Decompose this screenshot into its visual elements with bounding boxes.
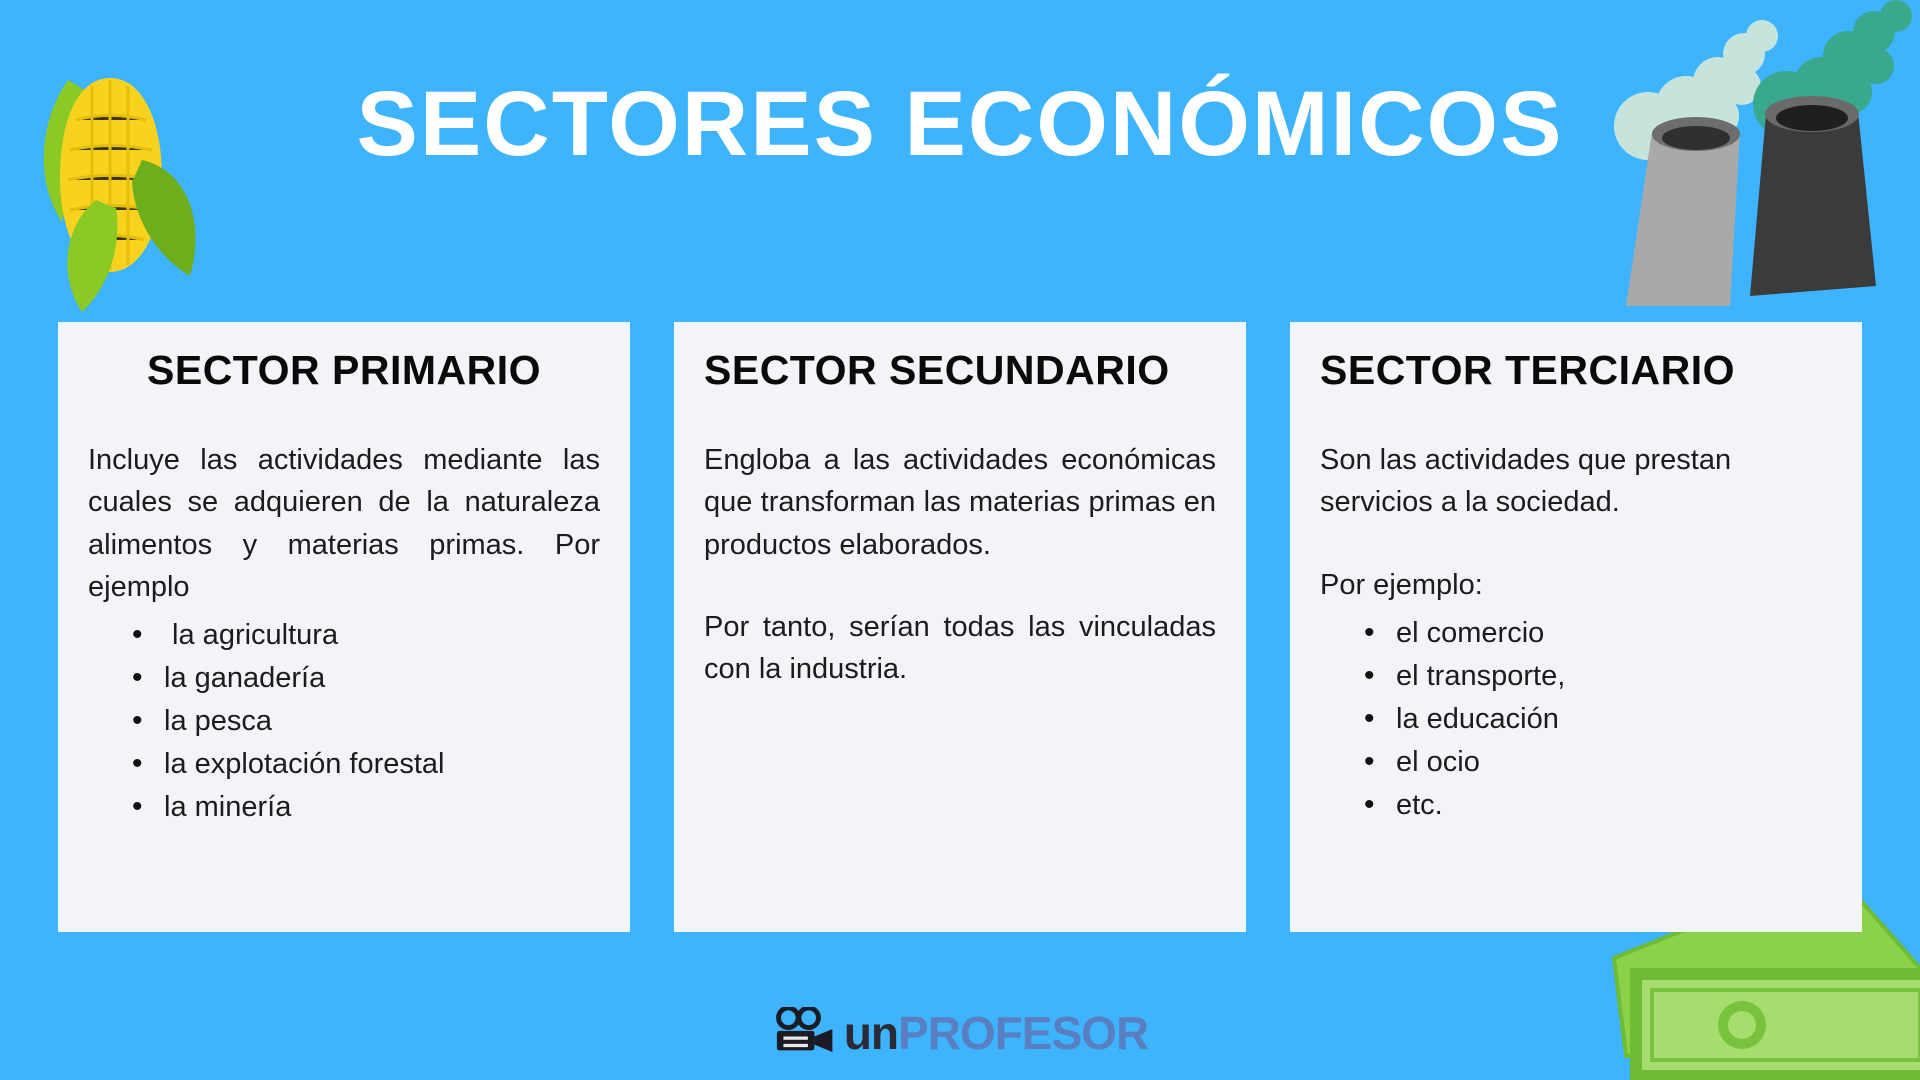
list-item: la explotación forestal xyxy=(132,743,600,786)
card-title-primario: SECTOR PRIMARIO xyxy=(88,348,600,393)
logo-prefix: un xyxy=(844,1007,898,1059)
logo-suffix: PROFESOR xyxy=(898,1007,1148,1059)
card-body-terciario: Son las actividades que prestan servicio… xyxy=(1320,439,1832,827)
card-paragraph: Incluye las actividades mediante las cua… xyxy=(88,439,600,608)
list-item: la ganadería xyxy=(132,657,600,700)
list-item: la educación xyxy=(1364,698,1832,741)
card-paragraph: Son las actividades que prestan servicio… xyxy=(1320,439,1832,524)
sector-cards-container: SECTOR PRIMARIO Incluye las actividades … xyxy=(0,322,1920,932)
card-sector-primario: SECTOR PRIMARIO Incluye las actividades … xyxy=(58,322,630,932)
card-paragraph: Por tanto, serían todas las vinculadas c… xyxy=(704,606,1216,691)
card-title-secundario: SECTOR SECUNDARIO xyxy=(704,348,1216,393)
bullet-list-terciario: el comercio el transporte, la educación … xyxy=(1320,612,1832,827)
card-body-secundario: Engloba a las actividades económicas que… xyxy=(704,439,1216,691)
logo-wordmark: unPROFESOR xyxy=(844,1010,1148,1056)
film-camera-icon xyxy=(772,1007,834,1058)
list-item: etc. xyxy=(1364,784,1832,827)
list-item: la agricultura xyxy=(132,614,600,657)
bullet-list-primario: la agricultura la ganadería la pesca la … xyxy=(88,614,600,829)
list-item: el comercio xyxy=(1364,612,1832,655)
list-item: el transporte, xyxy=(1364,655,1832,698)
list-item: la pesca xyxy=(132,700,600,743)
footer-logo: unPROFESOR xyxy=(0,1007,1920,1058)
card-body-primario: Incluye las actividades mediante las cua… xyxy=(88,439,600,829)
corn-illustration xyxy=(10,50,250,340)
card-sector-terciario: SECTOR TERCIARIO Son las actividades que… xyxy=(1290,322,1862,932)
factory-illustration xyxy=(1590,0,1920,324)
card-paragraph: Por ejemplo: xyxy=(1320,564,1832,606)
card-sector-secundario: SECTOR SECUNDARIO Engloba a las activida… xyxy=(674,322,1246,932)
list-item: el ocio xyxy=(1364,741,1832,784)
list-item: la minería xyxy=(132,786,600,829)
card-paragraph: Engloba a las actividades económicas que… xyxy=(704,439,1216,566)
card-title-terciario: SECTOR TERCIARIO xyxy=(1320,348,1832,393)
